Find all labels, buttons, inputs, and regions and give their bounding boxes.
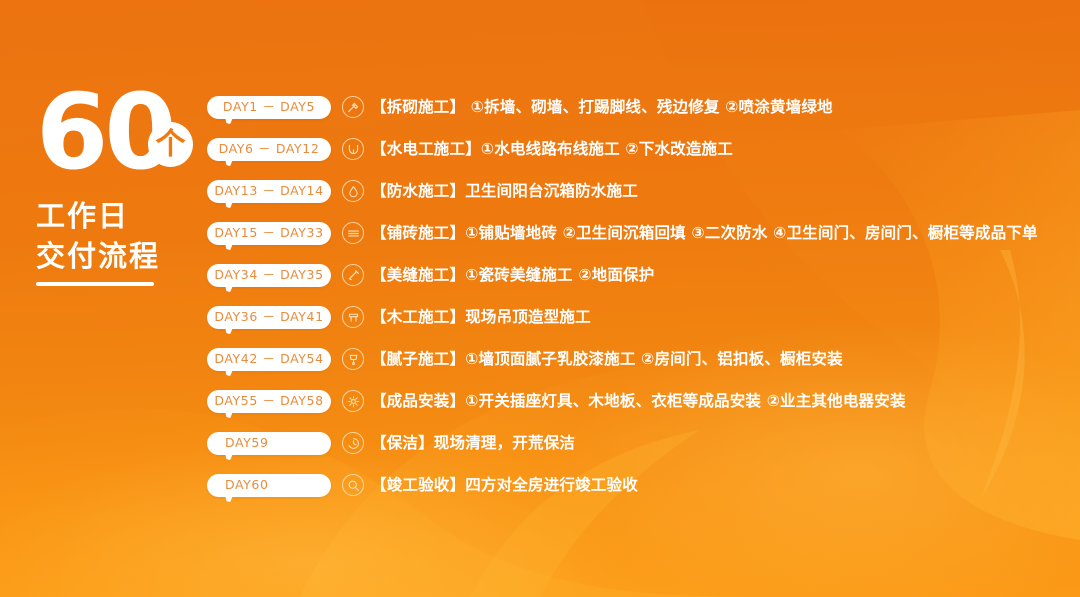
day-range-badge: DAY15 － DAY33 [207,222,331,245]
step-description: 【保洁】现场清理，开荒保洁 [371,432,575,454]
schedule-step-list: DAY1 － DAY5【拆砌施工】 ①拆墙、砌墙、打踢脚线、残边修复 ②喷涂黄墙… [207,96,1067,516]
day-range-badge: DAY34 － DAY35 [207,264,331,287]
schedule-step-row: DAY42 － DAY54【腻子施工】①墙顶面腻子乳胶漆施工 ②房间门、铝扣板、… [207,348,1067,390]
day-range-badge: DAY55 － DAY58 [207,390,331,413]
headline-number-row: 60 个 [36,84,206,180]
schedule-step-row: DAY13 － DAY14【防水施工】卫生间阳台沉箱防水施工 [207,180,1067,222]
putty-paint-icon [342,348,364,370]
headline-unit-badge: 个 [148,122,193,167]
step-description: 【成品安装】①开关插座灯具、木地板、衣柜等成品安装 ②业主其他电器安装 [371,390,906,412]
headline-underline [36,282,154,286]
step-description: 【拆砌施工】 ①拆墙、砌墙、打踢脚线、残边修复 ②喷涂黄墙绿地 [371,96,833,118]
schedule-step-row: DAY34 － DAY35【美缝施工】①瓷砖美缝施工 ②地面保护 [207,264,1067,306]
demolition-masonry-icon [342,96,364,118]
schedule-step-row: DAY55 － DAY58【成品安装】①开关插座灯具、木地板、衣柜等成品安装 ②… [207,390,1067,432]
day-range-label: DAY55 － DAY58 [214,395,323,408]
headline-subtitle: 工作日 交付流程 [36,196,206,276]
fixture-installation-icon [342,390,364,412]
step-description: 【腻子施工】①墙顶面腻子乳胶漆施工 ②房间门、铝扣板、橱柜安装 [371,348,843,370]
step-description: 【防水施工】卫生间阳台沉箱防水施工 [371,180,638,202]
day-range-label: DAY42 － DAY54 [214,353,323,366]
day-range-label: DAY34 － DAY35 [214,269,323,282]
final-inspection-icon [342,474,364,496]
schedule-step-row: DAY15 － DAY33【铺砖施工】①铺贴墙地砖 ②卫生间沉箱回填 ③二次防水… [207,222,1067,264]
day-range-label: DAY36 － DAY41 [214,311,323,324]
schedule-step-row: DAY1 － DAY5【拆砌施工】 ①拆墙、砌墙、打踢脚线、残边修复 ②喷涂黄墙… [207,96,1067,138]
day-range-badge: DAY60 [207,474,331,497]
schedule-step-row: DAY36 － DAY41【木工施工】现场吊顶造型施工 [207,306,1067,348]
day-range-badge: DAY13 － DAY14 [207,180,331,203]
step-description: 【竣工验收】四方对全房进行竣工验收 [371,474,638,496]
poster-canvas: 60 个 工作日 交付流程 DAY1 － DAY5【拆砌施工】 ①拆墙、砌墙、打… [0,0,1080,597]
step-description: 【木工施工】现场吊顶造型施工 [371,306,591,328]
day-range-label: DAY6 － DAY12 [219,143,320,156]
carpentry-icon [342,306,364,328]
day-range-badge: DAY36 － DAY41 [207,306,331,329]
day-range-badge: DAY59 [207,432,331,455]
step-description: 【水电工施工】①水电线路布线施工 ②下水改造施工 [371,138,733,160]
headline-subtitle-line-2: 交付流程 [36,236,206,276]
step-description: 【铺砖施工】①铺贴墙地砖 ②卫生间沉箱回填 ③二次防水 ④卫生间门、房间门、橱柜… [371,222,1038,244]
headline-subtitle-line-1: 工作日 [36,196,206,236]
headline-block: 60 个 工作日 交付流程 [36,84,206,286]
tiling-icon [342,222,364,244]
day-range-badge: DAY42 － DAY54 [207,348,331,371]
day-range-label: DAY59 [207,437,331,450]
schedule-step-row: DAY59【保洁】现场清理，开荒保洁 [207,432,1067,474]
cleaning-icon [342,432,364,454]
day-range-badge: DAY1 － DAY5 [207,96,331,119]
day-range-label: DAY1 － DAY5 [223,101,315,114]
day-range-label: DAY60 [207,479,331,492]
day-range-label: DAY13 － DAY14 [214,185,323,198]
step-description: 【美缝施工】①瓷砖美缝施工 ②地面保护 [371,264,654,286]
day-range-label: DAY15 － DAY33 [214,227,323,240]
schedule-step-row: DAY60【竣工验收】四方对全房进行竣工验收 [207,474,1067,516]
schedule-step-row: DAY6 － DAY12【水电工施工】①水电线路布线施工 ②下水改造施工 [207,138,1067,180]
plumbing-electrical-icon [342,138,364,160]
day-range-badge: DAY6 － DAY12 [207,138,331,161]
waterproofing-icon [342,180,364,202]
grout-seam-icon [342,264,364,286]
